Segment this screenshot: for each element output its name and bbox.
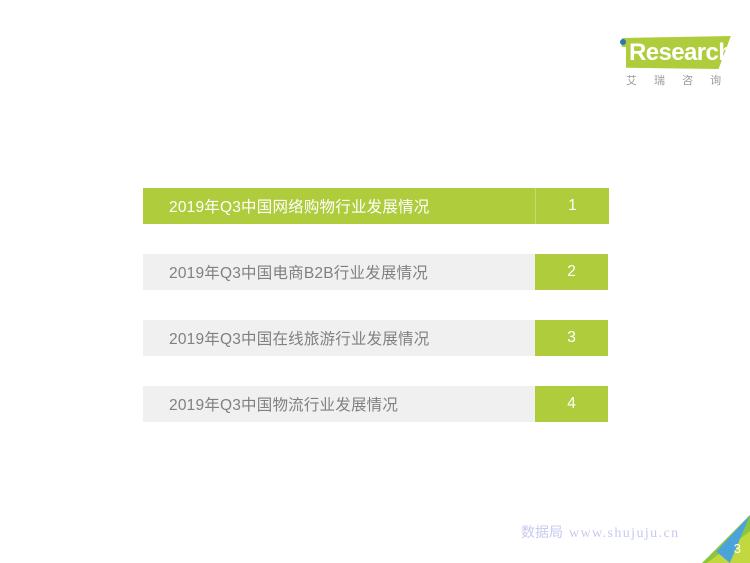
logo-wordmark: Research <box>629 40 732 66</box>
slide-canvas: Research 艾 瑞 咨 询 2019年Q3中国网络购物行业发展情况 1 2… <box>0 0 750 563</box>
logo-i-stem-icon <box>620 47 626 68</box>
agenda-row-1-title: 2019年Q3中国网络购物行业发展情况 <box>143 188 535 224</box>
watermark-url: www.shujuju.cn <box>569 526 679 541</box>
agenda-row-1-number: 1 <box>535 188 609 224</box>
agenda-row-2[interactable]: 2019年Q3中国电商B2B行业发展情况 2 <box>143 254 608 290</box>
watermark-site-name: 数据局 <box>521 524 563 540</box>
agenda-list: 2019年Q3中国网络购物行业发展情况 1 2019年Q3中国电商B2B行业发展… <box>143 188 608 422</box>
agenda-row-2-number: 2 <box>535 254 608 290</box>
agenda-row-4[interactable]: 2019年Q3中国物流行业发展情况 4 <box>143 386 608 422</box>
agenda-row-3-title: 2019年Q3中国在线旅游行业发展情况 <box>143 320 535 356</box>
iresearch-logo: Research 艾 瑞 咨 询 <box>612 36 734 94</box>
corner-decoration: 3 <box>702 515 750 563</box>
page-number: 3 <box>734 541 741 556</box>
agenda-row-2-title: 2019年Q3中国电商B2B行业发展情况 <box>143 254 535 290</box>
logo-mark: Research <box>612 36 734 69</box>
logo-i-dot-icon <box>620 39 626 45</box>
agenda-row-3-number: 3 <box>535 320 608 356</box>
logo-subtitle: 艾 瑞 咨 询 <box>626 72 734 88</box>
agenda-row-3[interactable]: 2019年Q3中国在线旅游行业发展情况 3 <box>143 320 608 356</box>
agenda-row-1[interactable]: 2019年Q3中国网络购物行业发展情况 1 <box>143 188 608 224</box>
footer-watermark: 数据局www.shujuju.cn <box>521 522 679 542</box>
agenda-row-4-title: 2019年Q3中国物流行业发展情况 <box>143 386 535 422</box>
agenda-row-4-number: 4 <box>535 386 608 422</box>
